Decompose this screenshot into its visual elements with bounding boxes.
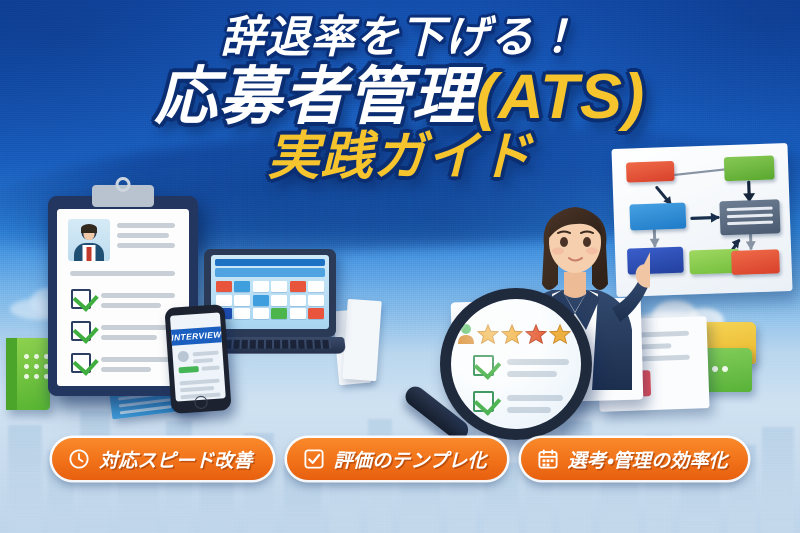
badge-label-evaluation-template: 評価のテンプレ化 xyxy=(334,446,487,473)
clipboard-check-3 xyxy=(71,353,91,373)
headline-line-2-main: 応募者管理 xyxy=(155,62,476,132)
feature-badge-row: 対応スピード改善 評価のテンプレ化 選考・管理の効率化 xyxy=(0,438,800,480)
candidate-photo xyxy=(68,219,110,261)
clipboard-check-2 xyxy=(71,321,91,341)
clock-icon xyxy=(68,448,90,470)
smartphone-banner-label: INTERVIEW xyxy=(171,326,222,345)
laptop-header-bar xyxy=(215,259,325,266)
badge-evaluation-template[interactable]: 評価のテンプレ化 xyxy=(287,438,507,480)
smartphone-screen: INTERVIEW xyxy=(170,312,226,401)
badge-process-efficiency[interactable]: 選考・管理の効率化 xyxy=(521,438,748,480)
smartphone-interview-banner: INTERVIEW xyxy=(171,326,222,345)
ats-guide-banner: 辞退率を下げる！ 応募者管理(ATS) 実践ガイド xyxy=(0,0,800,533)
clipboard-check-1 xyxy=(71,289,91,309)
headline-line-2: 応募者管理(ATS) xyxy=(0,65,800,129)
headline-ats-accent: (ATS) xyxy=(476,62,646,132)
smartphone-body: INTERVIEW xyxy=(164,304,231,414)
green-binder xyxy=(6,338,50,410)
review-magnifier xyxy=(440,288,592,440)
checkbox-icon xyxy=(303,448,325,470)
badge-label-response-speed: 対応スピード改善 xyxy=(99,446,253,473)
green-binder-spine xyxy=(6,338,17,410)
magnifier-ring xyxy=(440,288,592,440)
smartphone-home-button xyxy=(194,395,208,409)
badge-label-process-efficiency: 選考・管理の効率化 xyxy=(568,446,728,473)
flow-node-4 xyxy=(719,199,780,235)
headline-block: 辞退率を下げる！ 応募者管理(ATS) 実践ガイド xyxy=(0,16,800,184)
green-binder-dots xyxy=(24,354,49,379)
smartphone: INTERVIEW xyxy=(164,304,231,414)
flow-node-7 xyxy=(731,249,780,275)
headline-line-3: 実践ガイド xyxy=(0,131,800,184)
laptop-screen xyxy=(211,255,329,329)
smartphone-avatar xyxy=(177,351,189,363)
headline-line-1: 辞退率を下げる！ xyxy=(0,16,800,61)
smartphone-action-button xyxy=(179,366,199,373)
laptop-card-grid xyxy=(216,281,324,319)
badge-response-speed[interactable]: 対応スピード改善 xyxy=(52,438,273,480)
calendar-icon xyxy=(537,448,559,470)
laptop-subheader-bar xyxy=(215,268,325,277)
